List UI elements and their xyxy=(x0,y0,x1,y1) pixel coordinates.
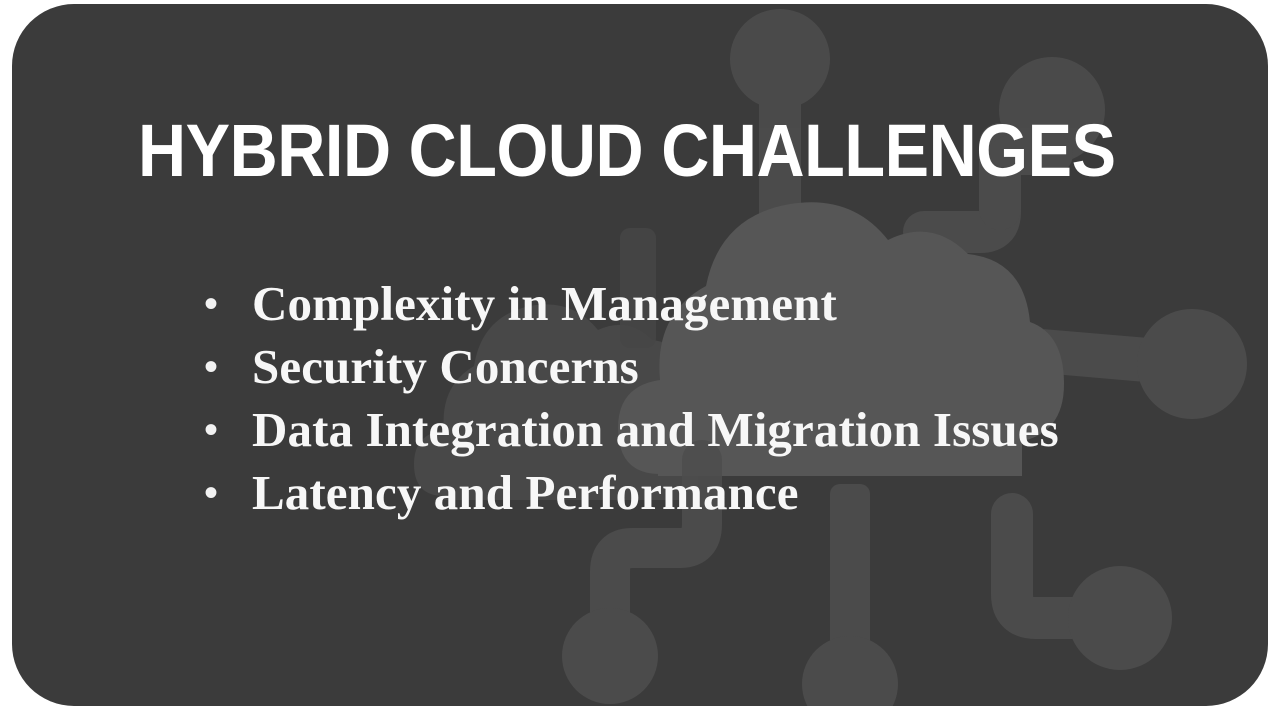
bullet-point-icon: • xyxy=(204,335,218,398)
list-item-label: Data Integration and Migration Issues xyxy=(252,402,1059,457)
list-item: • Complexity in Management xyxy=(190,272,1130,335)
bullet-point-icon: • xyxy=(204,272,218,335)
slide-content: HYBRID CLOUD CHALLENGES • Complexity in … xyxy=(12,4,1268,706)
bullet-list: • Complexity in Management • Security Co… xyxy=(190,272,1130,524)
list-item: • Security Concerns xyxy=(190,335,1130,398)
list-item-label: Latency and Performance xyxy=(252,465,799,520)
slide-root: HYBRID CLOUD CHALLENGES • Complexity in … xyxy=(0,0,1280,720)
bullet-point-icon: • xyxy=(204,398,218,461)
list-item: • Data Integration and Migration Issues xyxy=(190,398,1130,461)
list-item-label: Complexity in Management xyxy=(252,276,837,331)
list-item-label: Security Concerns xyxy=(252,339,639,394)
list-item: • Latency and Performance xyxy=(190,461,1130,524)
slide-card: HYBRID CLOUD CHALLENGES • Complexity in … xyxy=(12,4,1268,706)
slide-title: HYBRID CLOUD CHALLENGES xyxy=(138,114,1116,188)
bullet-point-icon: • xyxy=(204,461,218,524)
